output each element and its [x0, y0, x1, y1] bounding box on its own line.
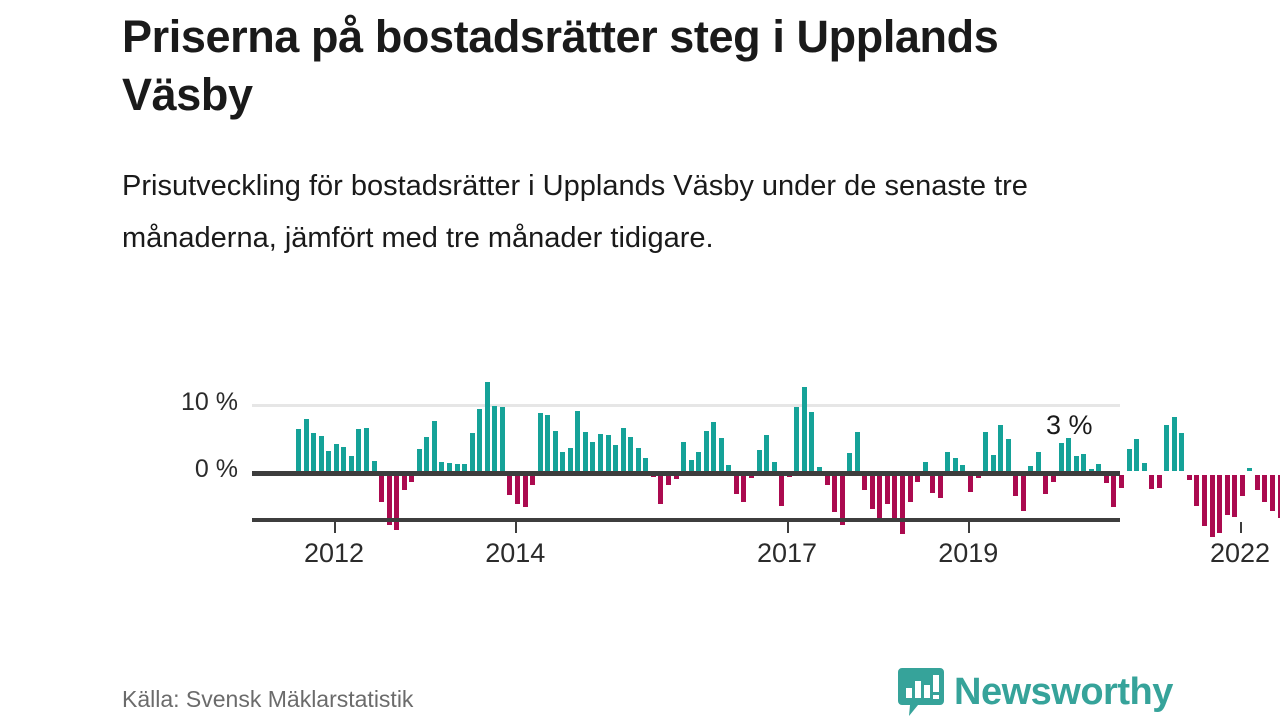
bar — [802, 387, 807, 471]
bar — [523, 475, 528, 507]
bar — [983, 432, 988, 471]
bar — [628, 437, 633, 471]
bar — [704, 431, 709, 471]
x-axis-tick — [787, 522, 789, 533]
bar — [485, 382, 490, 471]
bar — [1255, 475, 1260, 490]
x-axis-tick-label: 2012 — [304, 538, 364, 569]
bar — [417, 449, 422, 471]
bar — [1081, 454, 1086, 471]
bar — [364, 428, 369, 471]
x-axis-tick — [1240, 522, 1242, 533]
bar — [1217, 475, 1222, 533]
bar — [779, 475, 784, 506]
bar — [1240, 475, 1245, 496]
bar — [1179, 433, 1184, 471]
bar — [998, 425, 1003, 471]
bar — [870, 475, 875, 509]
bar — [1225, 475, 1230, 515]
logo-wordmark: Newsworthy — [954, 673, 1173, 711]
bar — [1247, 468, 1252, 471]
bar — [326, 451, 331, 471]
bar-chart-speech-bubble-icon — [898, 668, 944, 716]
bar — [1262, 475, 1267, 502]
bar — [530, 475, 535, 485]
bar — [1210, 475, 1215, 537]
bar — [741, 475, 746, 502]
bar — [311, 433, 316, 471]
bar — [1270, 475, 1275, 511]
bar — [734, 475, 739, 494]
bar — [681, 442, 686, 471]
bar — [953, 458, 958, 471]
bar — [356, 429, 361, 471]
y-axis-label-0: 0 % — [195, 455, 238, 484]
bar — [1127, 449, 1132, 471]
bar — [1104, 475, 1109, 483]
bar — [825, 475, 830, 485]
bar — [930, 475, 935, 493]
bar — [1006, 439, 1011, 471]
bar — [643, 458, 648, 471]
bar — [575, 411, 580, 471]
bar — [455, 464, 460, 471]
bar — [1051, 475, 1056, 482]
bar — [296, 429, 301, 471]
bar — [877, 475, 882, 519]
x-axis-tick-label: 2022 — [1210, 538, 1270, 569]
bar — [1013, 475, 1018, 496]
bar — [432, 421, 437, 471]
bar — [1096, 464, 1101, 471]
page-title: Priserna på bostadsrätter steg i Uppland… — [122, 8, 1132, 124]
bar — [689, 460, 694, 471]
bar — [500, 407, 505, 471]
chart-plot-area — [252, 340, 1120, 525]
bar — [1157, 475, 1162, 488]
bar — [538, 413, 543, 471]
y-axis-label-10: 10 % — [181, 388, 238, 417]
bar — [772, 462, 777, 471]
bar — [1172, 417, 1177, 471]
x-axis-line — [252, 518, 1120, 522]
bar — [621, 428, 626, 471]
bar — [1074, 456, 1079, 471]
bar — [855, 432, 860, 471]
bar — [892, 475, 897, 520]
bar — [1043, 475, 1048, 494]
bar — [809, 412, 814, 471]
bar — [439, 462, 444, 471]
newsworthy-logo[interactable]: Newsworthy — [898, 668, 1173, 716]
bar — [847, 453, 852, 471]
bar — [1111, 475, 1116, 507]
bar — [968, 475, 973, 492]
bar — [991, 455, 996, 471]
bar — [477, 409, 482, 471]
x-axis-tick — [968, 522, 970, 533]
bar — [711, 422, 716, 471]
bar — [507, 475, 512, 495]
bar — [1187, 475, 1192, 480]
source-note: Källa: Svensk Mäklarstatistik — [122, 686, 413, 713]
bar — [719, 438, 724, 472]
bar — [568, 448, 573, 471]
bar — [696, 452, 701, 471]
bar — [319, 436, 324, 471]
bar — [1066, 438, 1071, 472]
bar — [885, 475, 890, 504]
bar — [334, 444, 339, 471]
bar — [583, 432, 588, 471]
bar-chart: 10 % 0 % 3 % — [0, 330, 1280, 590]
bar — [545, 415, 550, 471]
bar — [794, 407, 799, 471]
bar — [1202, 475, 1207, 526]
bar — [1194, 475, 1199, 506]
bar — [341, 447, 346, 471]
bar — [372, 461, 377, 471]
bar — [945, 452, 950, 471]
bar — [515, 475, 520, 504]
bar — [923, 462, 928, 471]
bar — [379, 475, 384, 502]
bar — [1149, 475, 1154, 489]
x-axis-tick — [334, 522, 336, 533]
bar — [757, 450, 762, 471]
x-axis-tick-label: 2014 — [485, 538, 545, 569]
bar — [590, 442, 595, 471]
x-axis-tick — [515, 522, 517, 533]
bar — [462, 464, 467, 471]
bar — [1142, 463, 1147, 471]
bar — [470, 433, 475, 471]
bar — [908, 475, 913, 502]
bar — [424, 437, 429, 471]
bar — [553, 431, 558, 471]
x-axis-tick-label: 2019 — [938, 538, 998, 569]
bar — [1036, 452, 1041, 471]
zero-axis-line — [252, 471, 1120, 476]
bar — [606, 435, 611, 471]
bar — [402, 475, 407, 490]
bar — [1134, 439, 1139, 471]
bar — [349, 456, 354, 471]
bar — [938, 475, 943, 498]
page-subtitle: Prisutveckling för bostadsrätter i Uppla… — [122, 160, 1137, 264]
bar — [900, 475, 905, 534]
bar — [1232, 475, 1237, 517]
bar — [1059, 443, 1064, 471]
bar — [613, 445, 618, 471]
bar-series — [296, 340, 1096, 525]
bar — [1164, 425, 1169, 471]
bar — [764, 435, 769, 471]
bar — [304, 419, 309, 471]
bar — [1021, 475, 1026, 511]
bar — [447, 463, 452, 471]
bar — [636, 448, 641, 471]
bar — [1119, 475, 1124, 488]
bar — [658, 475, 663, 504]
x-axis-tick-label: 2017 — [757, 538, 817, 569]
bar — [832, 475, 837, 512]
bar — [915, 475, 920, 482]
bar — [862, 475, 867, 490]
bar — [666, 475, 671, 485]
latest-value-annotation: 3 % — [1046, 410, 1093, 441]
bar — [560, 452, 565, 471]
bar — [598, 434, 603, 471]
bar — [409, 475, 414, 482]
bar — [492, 406, 497, 471]
